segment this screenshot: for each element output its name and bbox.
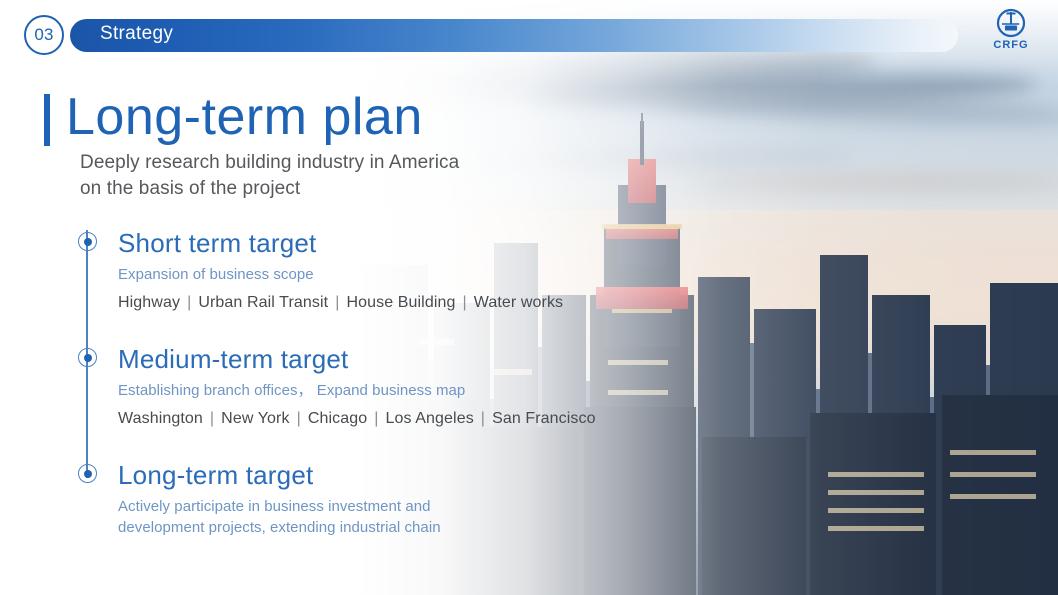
bullet-dot	[84, 470, 92, 478]
item-label: Washington	[118, 410, 203, 427]
page-title: Long-term plan	[66, 86, 423, 148]
crfg-emblem-icon	[996, 8, 1026, 38]
page-subtitle-line2: on the basis of the project	[80, 176, 459, 202]
item-separator: |	[180, 294, 198, 311]
section-description: Establishing branch offices， Expand busi…	[118, 380, 596, 401]
section-description-line1: Actively participate in business investm…	[118, 498, 431, 515]
page-title-row: Long-term plan	[44, 86, 423, 148]
item-label: Chicago	[308, 410, 367, 427]
page-subtitle: Deeply research building industry in Ame…	[80, 150, 459, 202]
timeline-bullet-icon	[78, 348, 97, 367]
section-items: Highway|Urban Rail Transit|House Buildin…	[118, 292, 563, 314]
item-separator: |	[474, 410, 492, 427]
section-description: Expansion of business scope	[118, 264, 563, 285]
item-separator: |	[203, 410, 221, 427]
bullet-dot	[84, 354, 92, 362]
item-separator: |	[367, 410, 385, 427]
timeline-bullet-icon	[78, 464, 97, 483]
section-heading: Long-term target	[118, 460, 441, 490]
item-label: San Francisco	[492, 410, 596, 427]
slide: 03 Strategy CRFG Long-term plan Deeply r…	[0, 0, 1058, 595]
item-label: New York	[221, 410, 289, 427]
section-items: Washington|New York|Chicago|Los Angeles|…	[118, 408, 596, 430]
section-body: Medium-term target Establishing branch o…	[118, 344, 596, 430]
section-description: Actively participate in business investm…	[118, 496, 441, 538]
crfg-logo-text: CRFG	[980, 39, 1042, 51]
slide-header: 03 Strategy CRFG	[0, 0, 1058, 66]
company-logo: CRFG	[980, 8, 1042, 58]
item-label: Highway	[118, 294, 180, 311]
section-description-line2: development projects, extending industri…	[118, 517, 441, 538]
section-banner	[70, 19, 958, 52]
section-heading: Medium-term target	[118, 344, 596, 374]
section-banner-label: Strategy	[100, 23, 173, 45]
item-separator: |	[290, 410, 308, 427]
page-subtitle-line1: Deeply research building industry in Ame…	[80, 150, 459, 176]
timeline-bullet-icon	[78, 232, 97, 251]
item-label: Urban Rail Transit	[198, 294, 328, 311]
bullet-dot	[84, 238, 92, 246]
section-heading: Short term target	[118, 228, 563, 258]
section-body: Long-term target Actively participate in…	[118, 460, 441, 538]
target-section-long-term: Long-term target Actively participate in…	[78, 460, 441, 538]
title-accent-bar	[44, 94, 50, 146]
item-label: House Building	[346, 294, 455, 311]
target-section-short-term: Short term target Expansion of business …	[78, 228, 563, 314]
item-label: Los Angeles	[386, 410, 474, 427]
section-body: Short term target Expansion of business …	[118, 228, 563, 314]
section-number-badge: 03	[24, 15, 64, 55]
item-separator: |	[328, 294, 346, 311]
item-separator: |	[455, 294, 473, 311]
item-label: Water works	[474, 294, 563, 311]
target-section-medium-term: Medium-term target Establishing branch o…	[78, 344, 596, 430]
